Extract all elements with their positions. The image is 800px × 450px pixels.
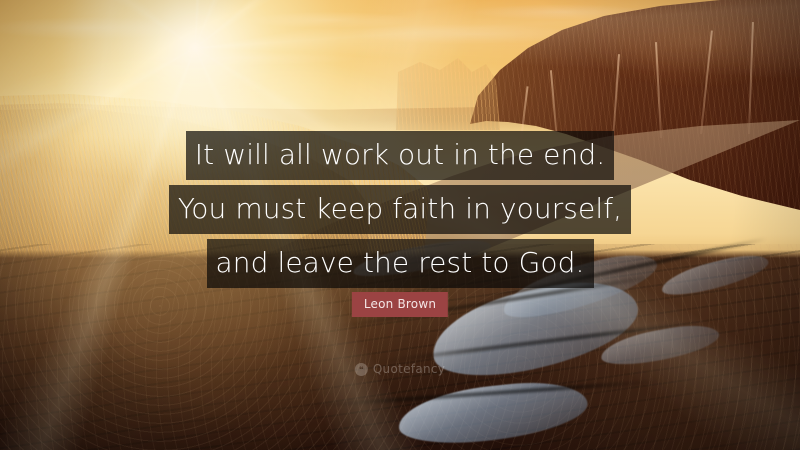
quote-line-3: and leave the rest to God.	[207, 239, 594, 288]
quote-line-2: You must keep faith in yourself,	[169, 185, 631, 234]
quote-block: It will all work out in the end. You mus…	[0, 131, 800, 288]
author-badge: Leon Brown	[352, 292, 448, 317]
quote-line-1: It will all work out in the end.	[186, 131, 614, 180]
quote-poster: It will all work out in the end. You mus…	[0, 0, 800, 450]
